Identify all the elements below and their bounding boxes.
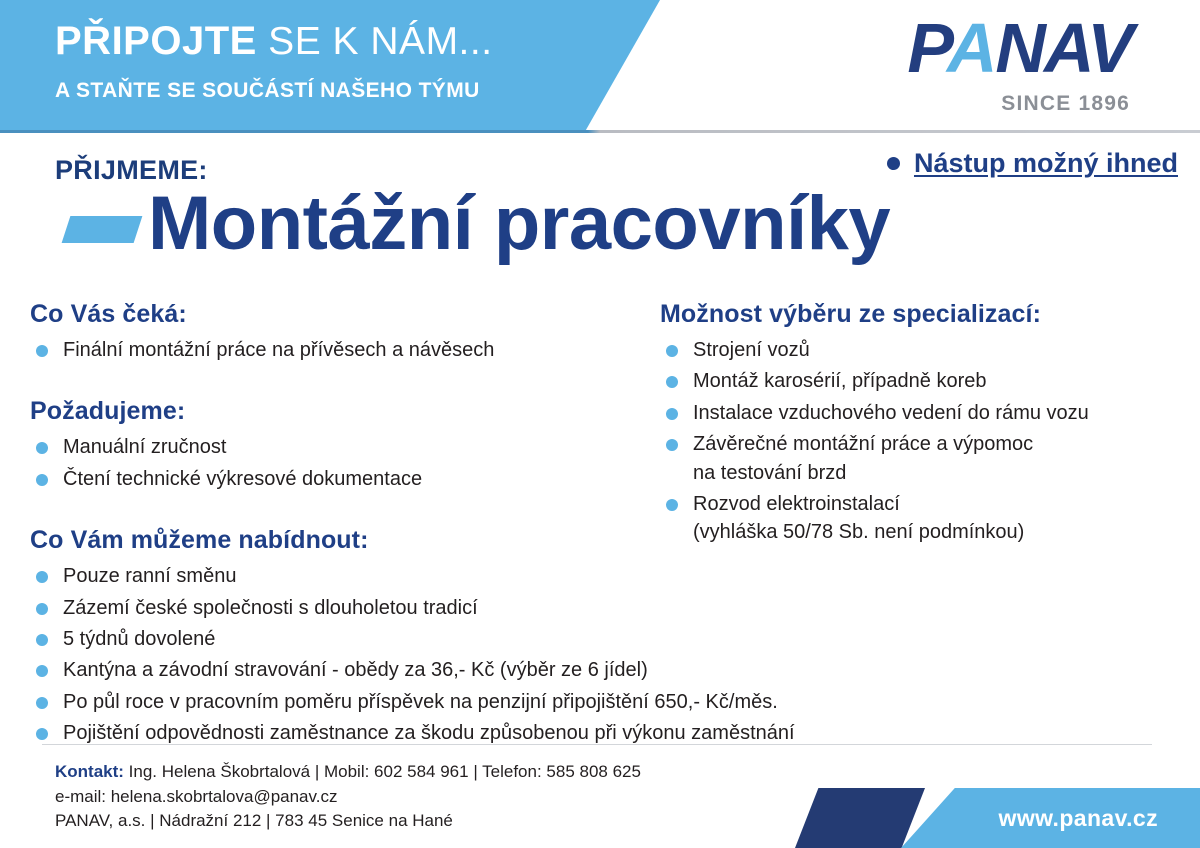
- header-headline-strong: PŘIPOJTE: [55, 19, 257, 63]
- list-item: Montáž karosérií, případně koreb: [660, 367, 1180, 395]
- header-divider-rule: [0, 130, 1200, 133]
- poster-header: PŘIPOJTE SE K NÁM... A STAŇTE SE SOUČÁST…: [0, 0, 1200, 132]
- list-item: Po půl roce v pracovním poměru příspěvek…: [30, 688, 640, 716]
- list-item: Závěrečné montážní práce a výpomoc na te…: [660, 430, 1180, 487]
- logo-letters-nav: NAV: [995, 9, 1132, 87]
- list-item: Kantýna a závodní stravování - obědy za …: [30, 656, 640, 684]
- list-item: Pouze ranní směnu: [30, 562, 640, 590]
- list-item: Zázemí české společnosti s dlouholetou t…: [30, 594, 640, 622]
- list-item: 5 týdnů dovolené: [30, 625, 640, 653]
- job-advert-poster: PŘIPOJTE SE K NÁM... A STAŇTE SE SOUČÁST…: [0, 0, 1200, 848]
- list-expect: Finální montážní práce na přívěsech a ná…: [30, 336, 640, 364]
- list-item: Rozvod elektroinstalací (vyhláška 50/78 …: [660, 490, 1180, 547]
- start-availability-text: Nástup možný ihned: [914, 148, 1178, 179]
- contact-block: Kontakt: Ing. Helena Škobrtalová | Mobil…: [55, 760, 641, 834]
- title-parallelogram-icon: [62, 216, 143, 243]
- contact-person-phones: Ing. Helena Škobrtalová | Mobil: 602 584…: [124, 762, 641, 781]
- list-item: Manuální zručnost: [30, 433, 640, 461]
- header-subheadline: A STAŇTE SE SOUČÁSTÍ NAŠEHO TÝMU: [55, 80, 480, 101]
- list-item: Strojení vozů: [660, 336, 1180, 364]
- start-availability-note: Nástup možný ihned: [887, 148, 1178, 179]
- left-column: Co Vás čeká: Finální montážní práce na p…: [30, 300, 640, 751]
- website-url[interactable]: www.panav.cz: [795, 788, 1200, 848]
- header-headline: PŘIPOJTE SE K NÁM...: [55, 21, 493, 61]
- logo-letter-p: P: [907, 9, 947, 87]
- spacer: [30, 496, 640, 526]
- list-specialization: Strojení vozů Montáž karosérií, případně…: [660, 336, 1180, 547]
- list-offer: Pouze ranní směnu Zázemí české společnos…: [30, 562, 640, 747]
- list-item: Finální montážní práce na přívěsech a ná…: [30, 336, 640, 364]
- list-require: Manuální zručnost Čtení technické výkres…: [30, 433, 640, 493]
- section-heading-require: Požadujeme:: [30, 397, 640, 426]
- logo-tagline: SINCE 1896: [1001, 92, 1130, 116]
- logo-letter-a-accent: A: [947, 9, 996, 87]
- spacer: [30, 367, 640, 397]
- logo-wordmark: PANAV: [907, 12, 1132, 86]
- contact-line-address: PANAV, a.s. | Nádražní 212 | 783 45 Seni…: [55, 809, 641, 834]
- bullet-dot-icon: [887, 157, 900, 170]
- section-heading-expect: Co Vás čeká:: [30, 300, 640, 329]
- contact-line-person: Kontakt: Ing. Helena Škobrtalová | Mobil…: [55, 760, 641, 785]
- list-item: Čtení technické výkresové dokumentace: [30, 465, 640, 493]
- panav-logo: PANAV SINCE 1896: [712, 12, 1132, 124]
- section-heading-specialization: Možnost výběru ze specializací:: [660, 300, 1180, 329]
- list-item: Instalace vzduchového vedení do rámu voz…: [660, 399, 1180, 427]
- page-title: Montážní pracovníky: [148, 186, 890, 262]
- contact-line-email: e-mail: helena.skobrtalova@panav.cz: [55, 785, 641, 810]
- header-headline-light: SE K NÁM...: [257, 20, 493, 63]
- footer-divider: [42, 744, 1152, 745]
- right-column: Možnost výběru ze specializací: Strojení…: [660, 300, 1180, 550]
- section-heading-offer: Co Vám můžeme nabídnout:: [30, 526, 640, 555]
- footer-website-banner: www.panav.cz: [795, 788, 1200, 848]
- contact-label: Kontakt:: [55, 762, 124, 781]
